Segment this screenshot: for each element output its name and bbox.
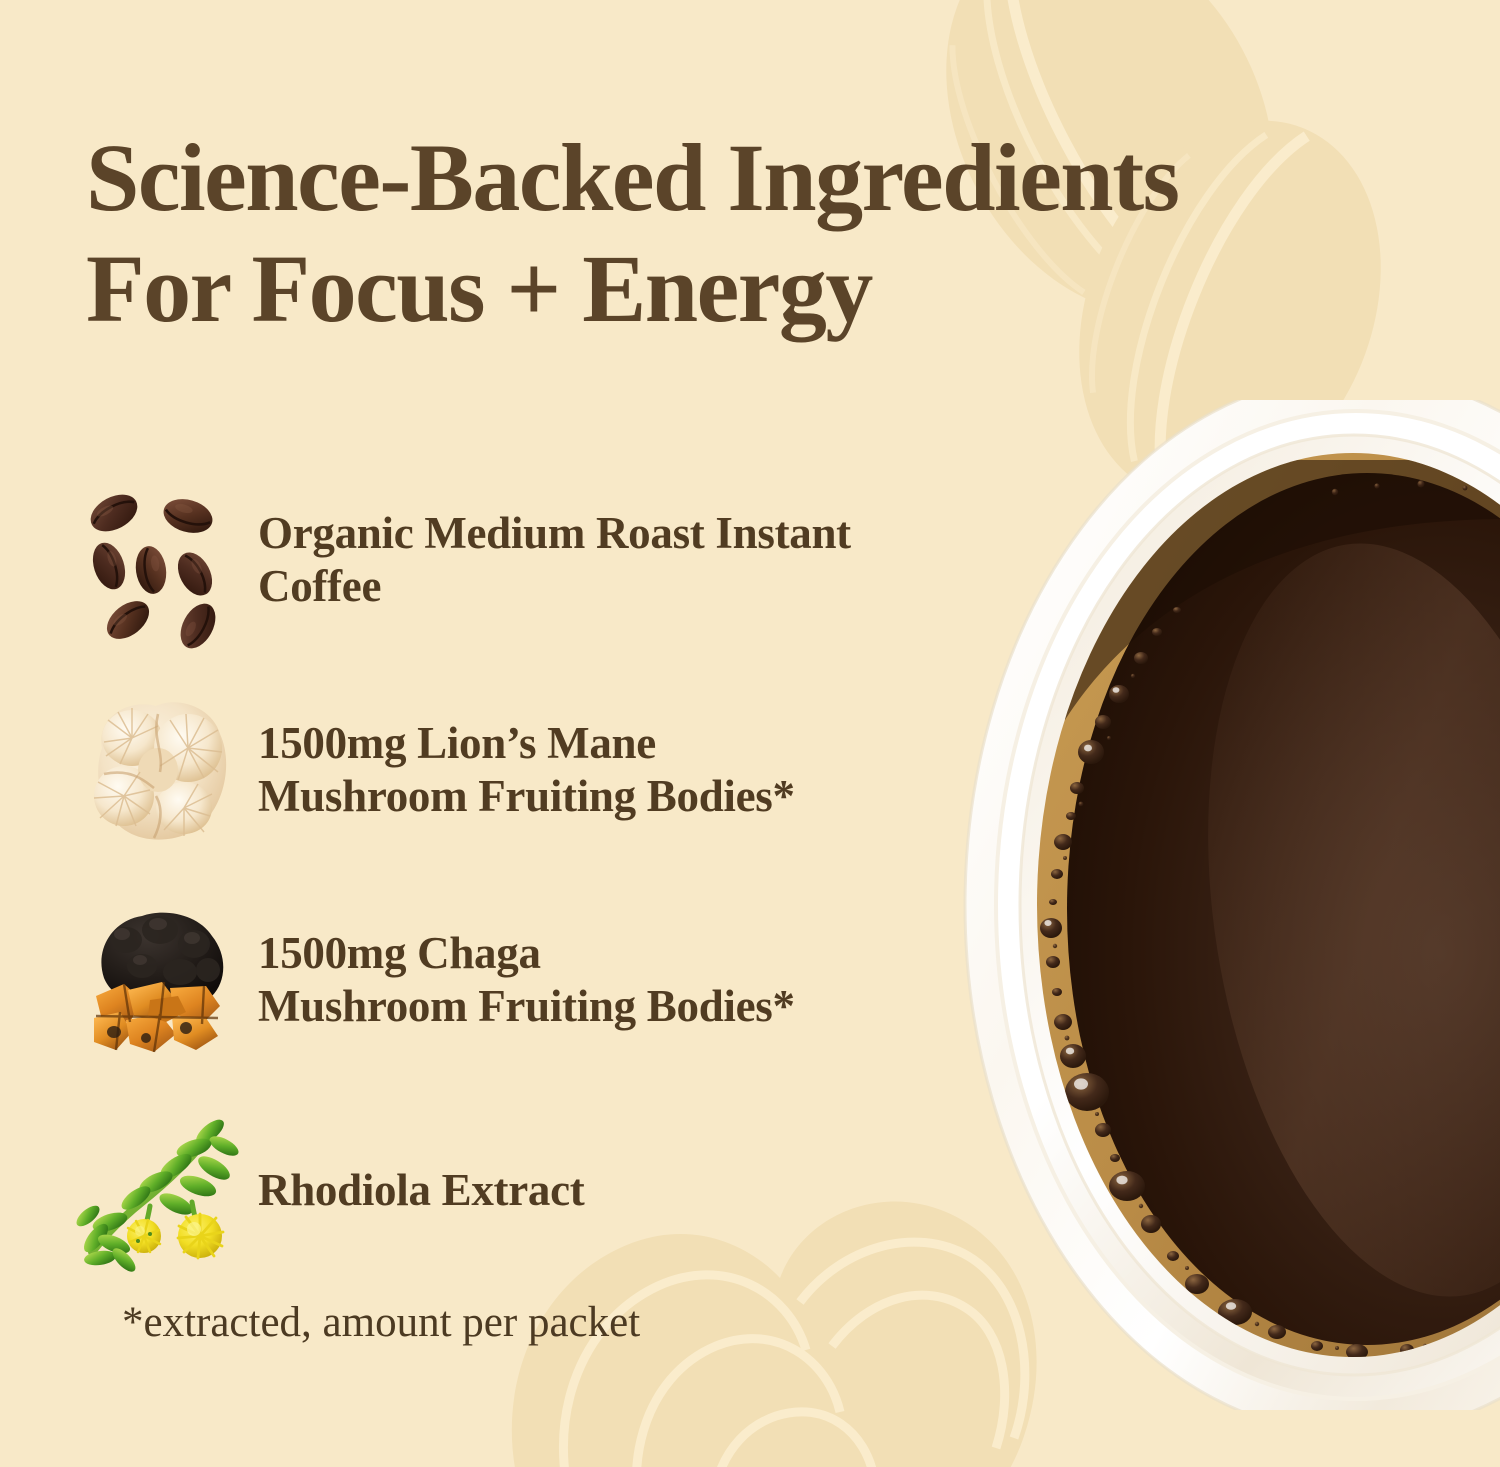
headline-line-2: For Focus + Energy: [86, 233, 1406, 344]
bubble-highlights: [1044, 687, 1236, 1310]
rhodiola-flower-small: [127, 1219, 161, 1253]
chaga-mushroom-icon: [80, 900, 240, 1060]
ingredient-label-chaga: 1500mg Chaga Mushroom Fruiting Bodies*: [240, 927, 980, 1032]
ingredient-chaga-line-1: 1500mg Chaga: [258, 927, 980, 980]
ingredient-label-lions-mane: 1500mg Lion’s Mane Mushroom Fruiting Bod…: [240, 717, 980, 822]
rhodiola-flower-icon: [80, 1110, 240, 1270]
ingredient-lions-mane-line-2: Mushroom Fruiting Bodies*: [258, 770, 980, 823]
ingredient-rhodiola-line-1: Rhodiola Extract: [258, 1164, 980, 1217]
ingredient-label-coffee: Organic Medium Roast Instant Coffee: [240, 507, 980, 612]
ingredient-item-lions-mane: 1500mg Lion’s Mane Mushroom Fruiting Bod…: [80, 665, 980, 875]
ingredient-chaga-line-2: Mushroom Fruiting Bodies*: [258, 980, 980, 1033]
ingredient-coffee-line-2: Coffee: [258, 560, 980, 613]
ingredient-label-rhodiola: Rhodiola Extract: [240, 1164, 980, 1217]
coffee-surface: [1067, 473, 1500, 1345]
coffee-cup-image: [905, 400, 1500, 1410]
footnote: *extracted, amount per packet: [122, 1298, 640, 1347]
ingredient-item-chaga: 1500mg Chaga Mushroom Fruiting Bodies*: [80, 875, 980, 1085]
crema-bubbles: [1040, 480, 1500, 1360]
ingredients-infographic: Science-Backed Ingredients For Focus + E…: [0, 0, 1500, 1467]
headline-line-1: Science-Backed Ingredients: [86, 122, 1406, 233]
ingredient-lions-mane-line-1: 1500mg Lion’s Mane: [258, 717, 980, 770]
lions-mane-mushroom-icon: [80, 690, 240, 850]
coffee-beans-icon: [80, 480, 240, 640]
ingredient-list: Organic Medium Roast Instant Coffee: [80, 455, 980, 1295]
ingredient-coffee-line-1: Organic Medium Roast Instant: [258, 507, 980, 560]
crema-ring: [1037, 453, 1500, 1357]
rhodiola-flower-large: [178, 1214, 223, 1258]
ingredient-item-coffee: Organic Medium Roast Instant Coffee: [80, 455, 980, 665]
page-title: Science-Backed Ingredients For Focus + E…: [86, 122, 1406, 345]
coffee-shadow-arc: [1045, 460, 1500, 720]
ingredient-item-rhodiola: Rhodiola Extract: [80, 1085, 980, 1295]
cup-inner-wall: [1020, 435, 1500, 1375]
coffee-sheen: [1158, 515, 1500, 1325]
cup-rim: [996, 411, 1500, 1399]
cup-outer-body: [965, 400, 1500, 1410]
